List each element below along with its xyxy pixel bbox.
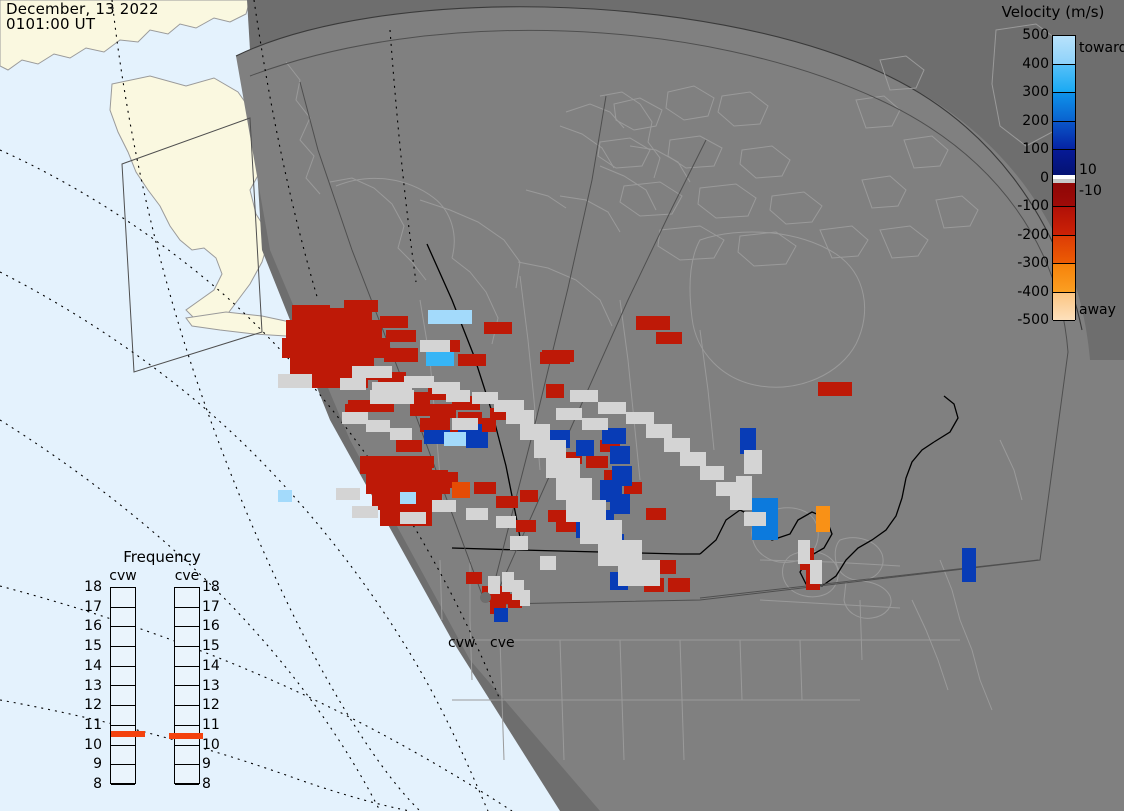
frequency-legend: Frequency cvw 18171615141312111098 cve 1…: [82, 548, 242, 788]
velocity-cell[interactable]: [474, 482, 496, 494]
velocity-cell[interactable]: [582, 418, 608, 430]
velocity-cell[interactable]: [506, 410, 534, 424]
colorbar-tick-labels: 5004003002001000-100-200-300-400-500: [985, 35, 1049, 320]
velocity-cell[interactable]: [286, 320, 382, 340]
velocity-cell[interactable]: [962, 548, 976, 582]
velocity-cell[interactable]: [400, 492, 416, 504]
frequency-tick-15: 15: [202, 639, 226, 653]
velocity-cell[interactable]: [444, 432, 466, 446]
frequency-tick-9: 9: [202, 757, 226, 771]
velocity-cell[interactable]: [494, 608, 508, 622]
velocity-cell[interactable]: [566, 500, 606, 522]
velocity-cell[interactable]: [396, 440, 422, 452]
frequency-tick-18: 18: [78, 580, 102, 594]
frequency-row: [111, 706, 135, 726]
colorbar-tick--300: -300: [991, 256, 1049, 270]
velocity-cell[interactable]: [586, 456, 608, 468]
colorbar-band-100-200: [1053, 122, 1075, 151]
velocity-cell[interactable]: [370, 390, 414, 404]
velocity-cell[interactable]: [680, 452, 706, 466]
frequency-row: [175, 588, 199, 608]
frequency-tick-14: 14: [202, 659, 226, 673]
frequency-tick-18: 18: [202, 580, 226, 594]
colorbar-band-400-500: [1053, 36, 1075, 65]
frequency-row: [111, 588, 135, 608]
frequency-tick-15: 15: [78, 639, 102, 653]
velocity-cell[interactable]: [278, 490, 292, 502]
frequency-bar-cvw[interactable]: [110, 587, 136, 784]
frequency-tick-16: 16: [202, 619, 226, 633]
velocity-cell[interactable]: [390, 428, 412, 440]
velocity-cell[interactable]: [816, 506, 830, 532]
frequency-tick-10: 10: [202, 738, 226, 752]
frequency-tick-8: 8: [78, 777, 102, 791]
velocity-cell[interactable]: [818, 382, 852, 396]
velocity-cell[interactable]: [520, 490, 538, 502]
colorbar-toward-label: toward: [1079, 41, 1124, 55]
velocity-cell[interactable]: [496, 496, 518, 508]
velocity-cell[interactable]: [520, 590, 530, 606]
velocity-cell[interactable]: [426, 352, 454, 366]
velocity-cell[interactable]: [340, 378, 366, 390]
colorbar-tick--200: -200: [991, 228, 1049, 242]
velocity-cell[interactable]: [484, 322, 512, 334]
frequency-tick-12: 12: [78, 698, 102, 712]
velocity-cell[interactable]: [342, 412, 368, 424]
frequency-tick-12: 12: [202, 698, 226, 712]
velocity-cell[interactable]: [336, 488, 360, 500]
colorbar-band-200-300: [1053, 93, 1075, 122]
frequency-row: [175, 608, 199, 628]
colorbar-away-label: away: [1079, 303, 1116, 317]
colorbar-tick-0: 0: [991, 171, 1049, 185]
colorbar-band--300--200: [1053, 236, 1075, 265]
velocity-cell[interactable]: [540, 556, 556, 570]
velocity-cell[interactable]: [404, 376, 434, 388]
colorbar-title: Velocity (m/s): [985, 3, 1121, 21]
frequency-tick-9: 9: [78, 757, 102, 771]
colorbar-tick-200: 200: [991, 114, 1049, 128]
colorbar-band-300-400: [1053, 65, 1075, 94]
frequency-marker-cvw: [111, 731, 145, 737]
frequency-tick-16: 16: [78, 619, 102, 633]
velocity-cell[interactable]: [282, 338, 390, 358]
frequency-row: [111, 647, 135, 667]
colorbar-band--200--100: [1053, 207, 1075, 236]
site-label-cvw: cvw: [448, 635, 475, 651]
frequency-row: [175, 706, 199, 726]
velocity-cell[interactable]: [542, 350, 574, 362]
velocity-cell[interactable]: [510, 536, 528, 550]
velocity-cell[interactable]: [458, 354, 486, 366]
frequency-row: [111, 765, 135, 785]
velocity-cell[interactable]: [810, 560, 822, 584]
velocity-cell[interactable]: [744, 512, 766, 526]
velocity-cell[interactable]: [610, 446, 630, 464]
velocity-cell[interactable]: [576, 440, 594, 456]
velocity-cell[interactable]: [520, 424, 550, 440]
velocity-cell[interactable]: [556, 408, 582, 420]
velocity-colorbar: Velocity (m/s) 5004003002001000-100-200-…: [985, 0, 1124, 340]
velocity-cell[interactable]: [546, 458, 580, 478]
frequency-tick-14: 14: [78, 659, 102, 673]
frequency-row: [175, 647, 199, 667]
velocity-cell[interactable]: [452, 482, 470, 498]
frequency-bar-cve[interactable]: [174, 587, 200, 784]
velocity-cell[interactable]: [668, 578, 690, 592]
frequency-tick-8: 8: [202, 777, 226, 791]
velocity-cell[interactable]: [744, 450, 762, 474]
frequency-row: [111, 746, 135, 766]
site-label-cve: cve: [490, 635, 515, 651]
colorbar-tick-300: 300: [991, 85, 1049, 99]
velocity-cell[interactable]: [556, 478, 592, 500]
velocity-cell[interactable]: [428, 310, 472, 324]
velocity-cell[interactable]: [400, 512, 426, 524]
velocity-cell[interactable]: [420, 340, 450, 352]
colorbar-band--100--10: [1053, 179, 1075, 208]
colorbar-gradient[interactable]: [1052, 35, 1076, 320]
frequency-row: [175, 627, 199, 647]
colorbar-tick-100: 100: [991, 142, 1049, 156]
velocity-cell[interactable]: [618, 560, 660, 586]
velocity-cell[interactable]: [700, 466, 724, 480]
velocity-cell[interactable]: [646, 424, 672, 438]
velocity-cell[interactable]: [664, 438, 690, 452]
radar-site-marker[interactable]: [480, 592, 491, 603]
velocity-cell[interactable]: [466, 508, 488, 520]
velocity-cell[interactable]: [636, 316, 670, 330]
velocity-cell[interactable]: [646, 508, 666, 520]
colorbar-tick-400: 400: [991, 57, 1049, 71]
velocity-cell[interactable]: [626, 412, 654, 424]
frequency-marker-cve: [169, 733, 203, 739]
velocity-cell[interactable]: [384, 348, 418, 362]
colorbar-band--400--300: [1053, 264, 1075, 293]
frequency-row: [175, 667, 199, 687]
colorbar-positive-threshold: 10: [1079, 163, 1097, 177]
velocity-cell[interactable]: [452, 418, 478, 430]
velocity-cell[interactable]: [410, 456, 434, 468]
colorbar-zero-stripe-1: [1053, 179, 1075, 183]
frequency-row: [111, 687, 135, 707]
velocity-cell[interactable]: [730, 496, 752, 510]
velocity-cell[interactable]: [612, 466, 632, 486]
velocity-cell[interactable]: [466, 432, 488, 448]
velocity-cell[interactable]: [496, 516, 516, 528]
frequency-legend-title: Frequency: [82, 548, 242, 566]
frequency-row: [175, 687, 199, 707]
colorbar-negative-threshold: -10: [1079, 184, 1102, 198]
velocity-cell[interactable]: [278, 374, 312, 388]
velocity-cell[interactable]: [736, 476, 752, 498]
velocity-cell[interactable]: [366, 420, 390, 432]
frequency-row: [175, 746, 199, 766]
velocity-cell[interactable]: [534, 440, 566, 458]
velocity-cell[interactable]: [386, 330, 416, 342]
frequency-tick-13: 13: [202, 679, 226, 693]
frequency-tick-11: 11: [78, 718, 102, 732]
colorbar-tick--500: -500: [991, 313, 1049, 327]
velocity-cell[interactable]: [598, 402, 626, 414]
velocity-cell[interactable]: [446, 390, 470, 402]
frequency-tick-17: 17: [202, 600, 226, 614]
frequency-column-header-cvw: cvw: [100, 568, 146, 584]
velocity-cell[interactable]: [488, 576, 500, 594]
velocity-cell[interactable]: [798, 540, 810, 564]
velocity-cell[interactable]: [344, 300, 378, 312]
velocity-cell[interactable]: [656, 332, 682, 344]
frequency-tick-13: 13: [78, 679, 102, 693]
frequency-ticks-cvw: 18171615141312111098: [78, 587, 102, 784]
superdarn-velocity-map: December, 13 2022 0101:00 UT Velocity (m…: [0, 0, 1124, 811]
frequency-row: [175, 765, 199, 785]
velocity-cell[interactable]: [420, 470, 448, 482]
velocity-cell[interactable]: [570, 390, 598, 402]
velocity-cell[interactable]: [466, 572, 482, 584]
timestamp-time: 0101:00 UT: [6, 17, 159, 32]
velocity-cell[interactable]: [352, 366, 392, 378]
frequency-row: [111, 627, 135, 647]
velocity-cell[interactable]: [516, 520, 536, 532]
frequency-row: [111, 667, 135, 687]
colorbar-band--500--400: [1053, 293, 1075, 322]
velocity-cell[interactable]: [546, 384, 564, 398]
velocity-cell[interactable]: [380, 316, 408, 328]
velocity-cell[interactable]: [352, 506, 378, 518]
colorbar-tick-500: 500: [991, 28, 1049, 42]
colorbar-tick--100: -100: [991, 199, 1049, 213]
frequency-tick-11: 11: [202, 718, 226, 732]
velocity-cell[interactable]: [602, 428, 626, 444]
timestamp-block: December, 13 2022 0101:00 UT: [6, 2, 159, 32]
frequency-tick-17: 17: [78, 600, 102, 614]
frequency-row: [111, 608, 135, 628]
velocity-cell[interactable]: [420, 418, 450, 432]
frequency-ticks-cve: 18171615141312111098: [202, 587, 226, 784]
velocity-cell[interactable]: [432, 500, 456, 512]
frequency-tick-10: 10: [78, 738, 102, 752]
colorbar-tick--400: -400: [991, 285, 1049, 299]
